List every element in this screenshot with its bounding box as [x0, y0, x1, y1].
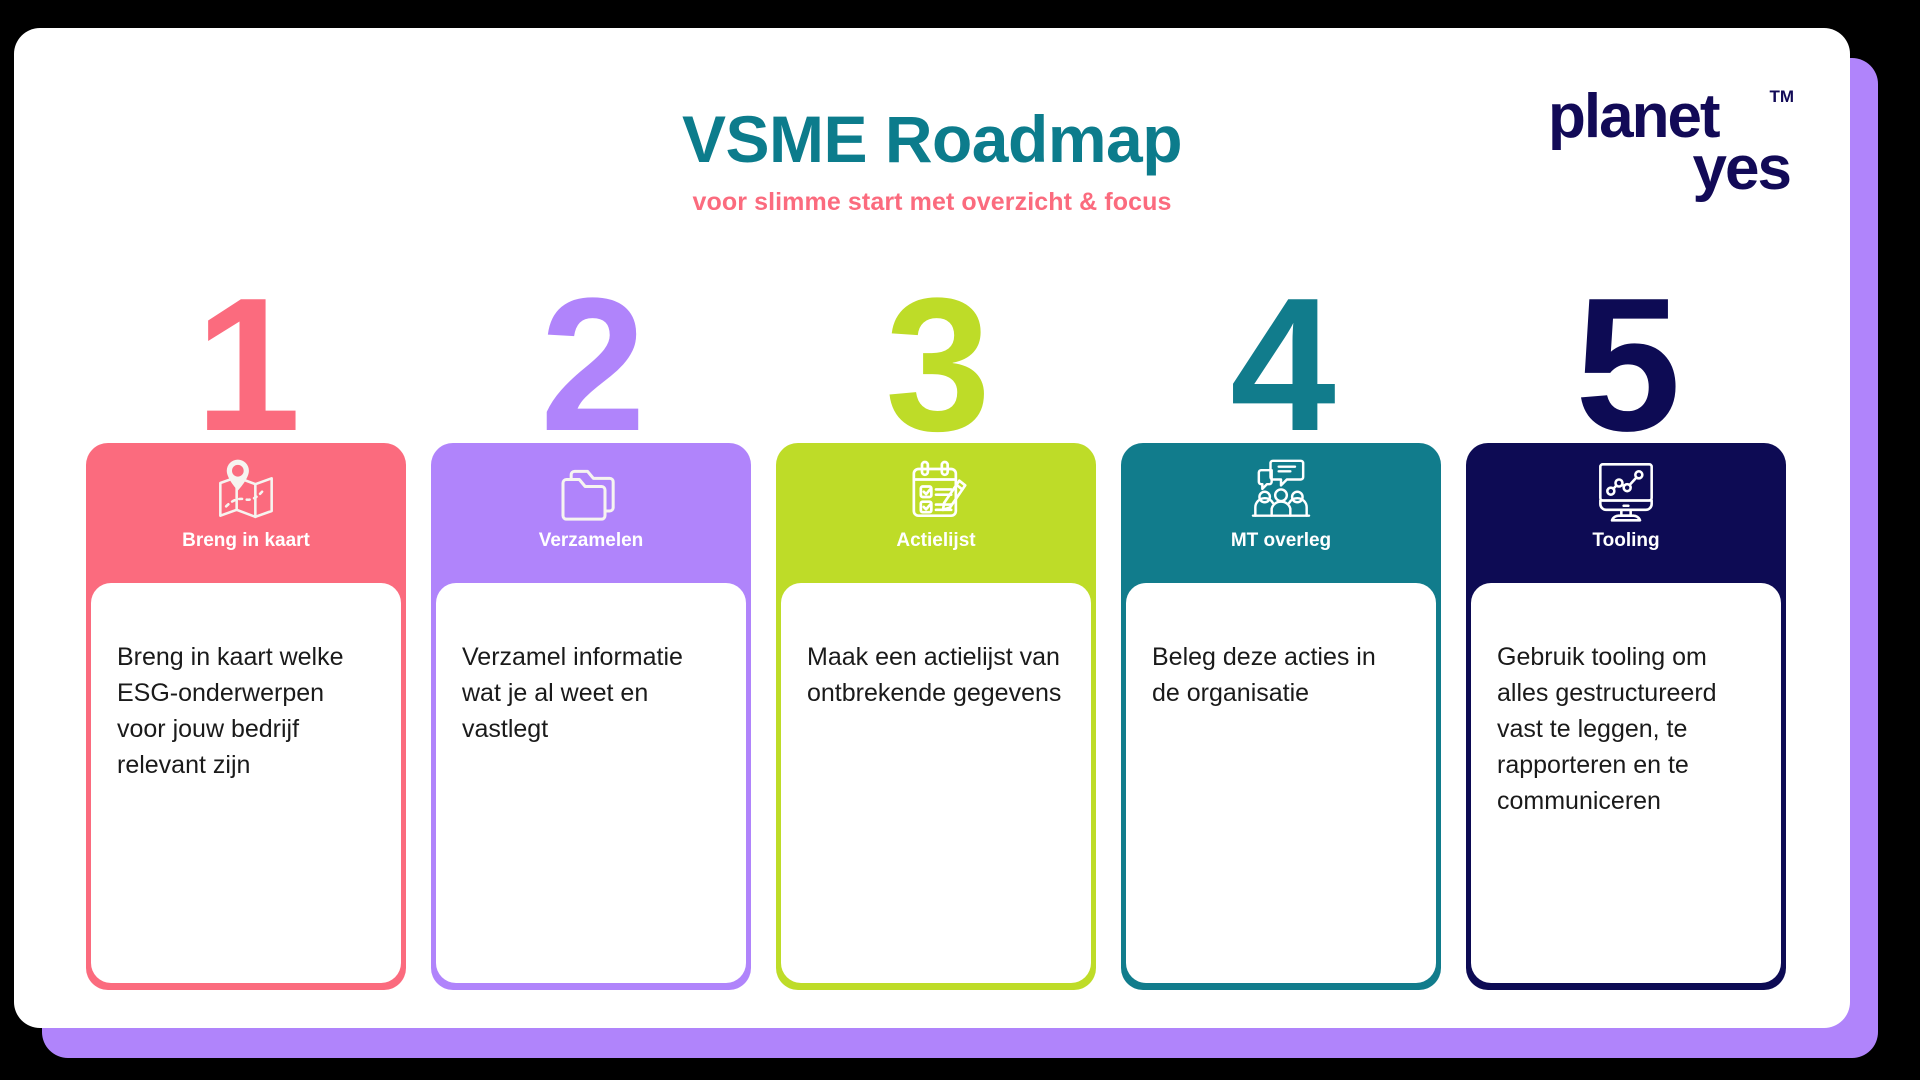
step-body: Beleg deze acties in de organisatie [1126, 583, 1436, 983]
monitor-chart-icon [1588, 455, 1664, 525]
step-description: Verzamel informatie wat je al weet en va… [462, 639, 720, 747]
roadmap-step-card[interactable]: 1 Breng in kaart [86, 280, 406, 990]
step-number: 4 [1121, 280, 1441, 450]
step-head: Actielijst [776, 443, 1096, 583]
folders-icon [553, 455, 629, 525]
step-head: MT overleg [1121, 443, 1441, 583]
trademark-icon: TM [1769, 88, 1794, 105]
step-head: Breng in kaart [86, 443, 406, 583]
step-body: Maak een actielijst van ontbrekende gege… [781, 583, 1091, 983]
roadmap-steps: 1 Breng in kaart [86, 280, 1786, 990]
slide-canvas: VSME Roadmap voor slimme start met overz… [0, 0, 1920, 1080]
step-description: Gebruik tooling om alles gestructureerd … [1497, 639, 1755, 819]
step-label: MT overleg [1231, 531, 1331, 550]
roadmap-step-card[interactable]: 4 [1121, 280, 1441, 990]
checklist-pencil-icon [898, 455, 974, 525]
step-frame: Breng in kaart welke ESG-onderwerpen voo… [86, 573, 406, 990]
step-label: Breng in kaart [182, 531, 310, 550]
step-number: 2 [431, 280, 751, 450]
roadmap-step-card[interactable]: 3 [776, 280, 1096, 990]
step-body: Gebruik tooling om alles gestructureerd … [1471, 583, 1781, 983]
roadmap-step-card[interactable]: 5 [1466, 280, 1786, 990]
step-frame: Verzamel informatie wat je al weet en va… [431, 573, 751, 990]
step-body: Verzamel informatie wat je al weet en va… [436, 583, 746, 983]
step-body: Breng in kaart welke ESG-onderwerpen voo… [91, 583, 401, 983]
brand-logo: planet TM yes [1548, 86, 1798, 204]
slide-sheet: VSME Roadmap voor slimme start met overz… [14, 28, 1850, 1028]
step-frame: Gebruik tooling om alles gestructureerd … [1466, 573, 1786, 990]
step-label: Tooling [1592, 531, 1659, 550]
map-pin-icon [208, 455, 284, 525]
step-label: Actielijst [896, 531, 975, 550]
meeting-people-icon [1243, 455, 1319, 525]
step-head: Tooling [1466, 443, 1786, 583]
step-description: Breng in kaart welke ESG-onderwerpen voo… [117, 639, 375, 783]
step-frame: Maak een actielijst van ontbrekende gege… [776, 573, 1096, 990]
step-label: Verzamelen [539, 531, 644, 550]
step-description: Beleg deze acties in de organisatie [1152, 639, 1410, 711]
roadmap-step-card[interactable]: 2 Verzamelen Verzamel informatie wat je … [431, 280, 751, 990]
step-frame: Beleg deze acties in de organisatie [1121, 573, 1441, 990]
step-head: Verzamelen [431, 443, 751, 583]
pin-hole [232, 465, 244, 477]
step-number: 5 [1466, 280, 1786, 450]
step-number: 1 [86, 280, 406, 450]
logo-word-yes: yes [1693, 138, 1790, 200]
header: VSME Roadmap voor slimme start met overz… [14, 28, 1850, 258]
step-description: Maak een actielijst van ontbrekende gege… [807, 639, 1065, 711]
step-number: 3 [776, 280, 1096, 450]
